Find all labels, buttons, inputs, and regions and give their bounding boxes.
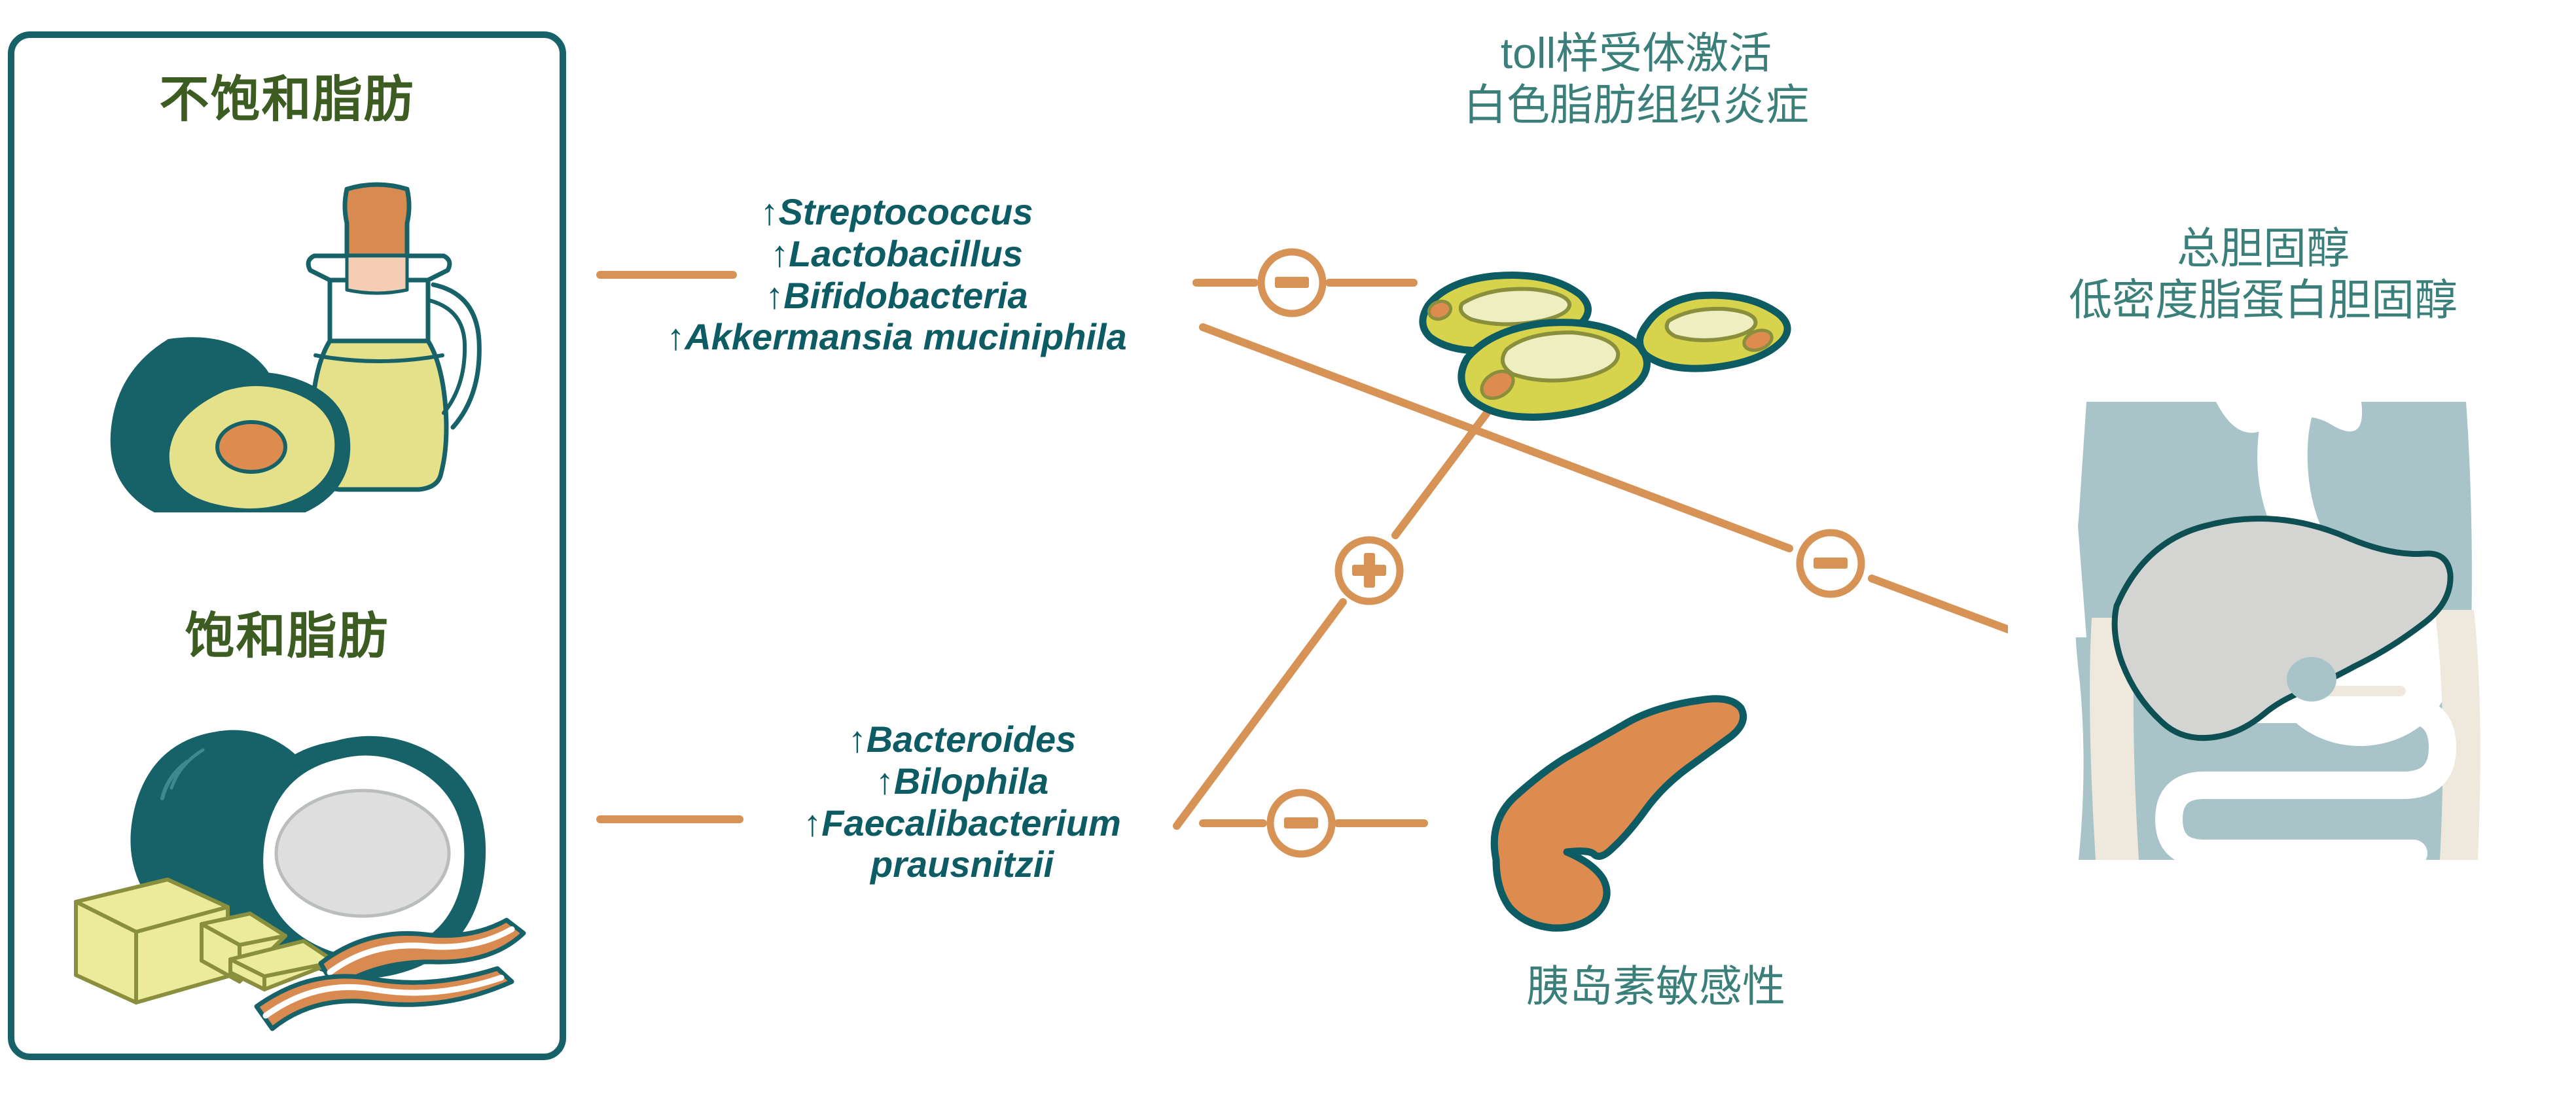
ldl-cholesterol-line: 低密度脂蛋白胆固醇 [1950, 274, 2576, 326]
inhibit-node-pancreas [1270, 792, 1332, 854]
bacteria-list-unsaturated: ↑Streptococcus ↑Lactobacillus ↑Bifidobac… [615, 191, 1178, 358]
bacteria-item: ↑Bilophila [733, 760, 1191, 802]
bacteria-item: ↑Lactobacillus [615, 233, 1178, 275]
tlr-line-2: 白色脂肪组织炎症 [1302, 79, 1970, 131]
inhibit-node-liver [1800, 533, 1861, 594]
bacteria-item: ↑Bifidobacteria [615, 275, 1178, 317]
bacteria-item: ↑Faecalibacterium [733, 802, 1191, 844]
insulin-sensitivity-label: 胰岛素敏感性 [1394, 961, 1918, 1012]
promote-node [1338, 540, 1400, 601]
cholesterol-label: 总胆固醇 低密度脂蛋白胆固醇 [1950, 222, 2576, 326]
toll-like-receptor-label: toll样受体激活 白色脂肪组织炎症 [1302, 27, 1970, 131]
bacteria-item: ↑Bacteroides [733, 719, 1191, 760]
adipocytes-icon [1394, 257, 1800, 440]
connector-diagonal-plus-lower [1177, 602, 1343, 826]
bacteria-list-saturated: ↑Bacteroides ↑Bilophila ↑Faecalibacteriu… [733, 719, 1191, 885]
inhibit-node-adipose [1261, 252, 1323, 313]
pancreas-icon [1425, 688, 1753, 963]
liver-torso-illustration [2008, 402, 2526, 860]
bacteria-item: ↑Streptococcus [615, 191, 1178, 233]
bacteria-item: prausnitzii [733, 844, 1191, 885]
insulin-sensitivity-line: 胰岛素敏感性 [1394, 961, 1918, 1012]
total-cholesterol-line: 总胆固醇 [1950, 222, 2576, 274]
tlr-line-1: toll样受体激活 [1302, 27, 1970, 79]
bacteria-item: ↑Akkermansia muciniphila [615, 316, 1178, 358]
